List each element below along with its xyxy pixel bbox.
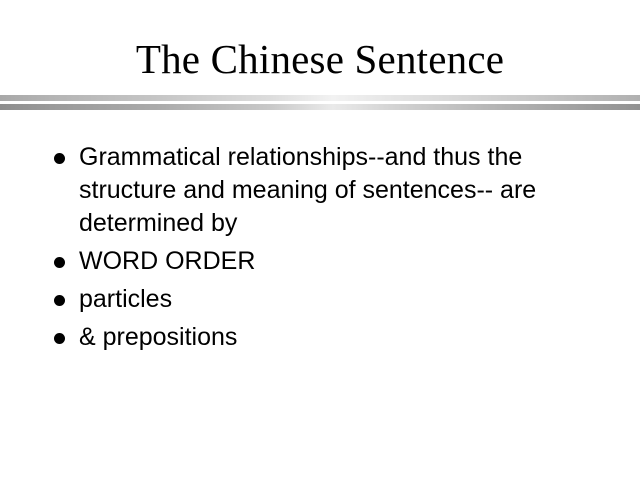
list-item: particles <box>50 283 610 316</box>
bullet-icon <box>54 333 65 344</box>
bullet-item-label: particles <box>79 283 610 316</box>
list-item: & prepositions <box>50 321 610 354</box>
bullet-item-label: WORD ORDER <box>79 245 610 278</box>
page-title: The Chinese Sentence <box>0 36 640 82</box>
divider-band-lower <box>0 104 640 110</box>
list-item: Grammatical relationships--and thus the … <box>50 141 610 240</box>
title-divider <box>0 94 640 111</box>
bullet-icon <box>54 153 65 164</box>
list-item: WORD ORDER <box>50 245 610 278</box>
bullet-icon <box>54 295 65 306</box>
presentation-slide: The Chinese Sentence Grammatical relatio… <box>0 0 640 480</box>
bullet-item-label: & prepositions <box>79 321 610 354</box>
bullet-list: Grammatical relationships--and thus the … <box>50 141 610 359</box>
bullet-icon <box>54 257 65 268</box>
bullet-item-label: Grammatical relationships--and thus the … <box>79 141 610 240</box>
